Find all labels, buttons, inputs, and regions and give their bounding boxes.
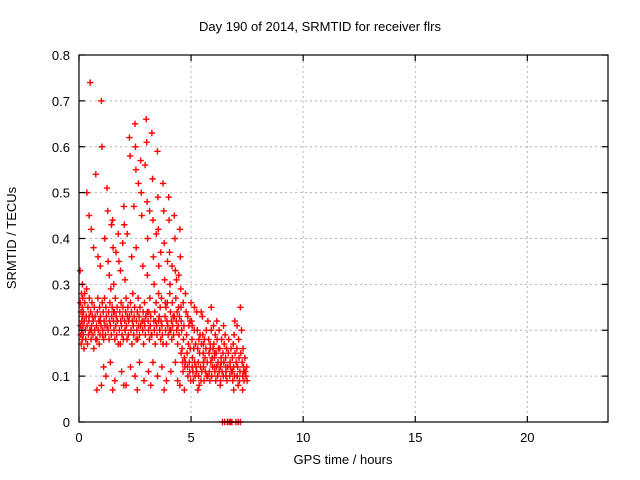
x-tick-label: 10: [296, 430, 310, 445]
y-tick-label: 0.5: [52, 186, 70, 201]
x-axis-title: GPS time / hours: [294, 452, 393, 467]
y-tick-label: 0: [63, 415, 70, 430]
y-tick-label: 0.2: [52, 323, 70, 338]
plot-canvas: Day 190 of 2014, SRMTID for receiver flr…: [0, 0, 640, 480]
x-tick-label: 0: [75, 430, 82, 445]
figure-background: [0, 0, 640, 480]
scatter-plot-figure: Day 190 of 2014, SRMTID for receiver flr…: [0, 0, 640, 480]
y-axis-title: SRMTID / TECUs: [4, 186, 19, 289]
y-tick-label: 0.8: [52, 48, 70, 63]
x-tick-label: 20: [520, 430, 534, 445]
y-tick-label: 0.7: [52, 94, 70, 109]
y-tick-label: 0.6: [52, 140, 70, 155]
x-tick-label: 5: [187, 430, 194, 445]
chart-title: Day 190 of 2014, SRMTID for receiver flr…: [199, 19, 442, 34]
y-tick-label: 0.3: [52, 277, 70, 292]
y-tick-label: 0.1: [52, 369, 70, 384]
y-tick-label: 0.4: [52, 232, 70, 247]
x-tick-label: 15: [408, 430, 422, 445]
